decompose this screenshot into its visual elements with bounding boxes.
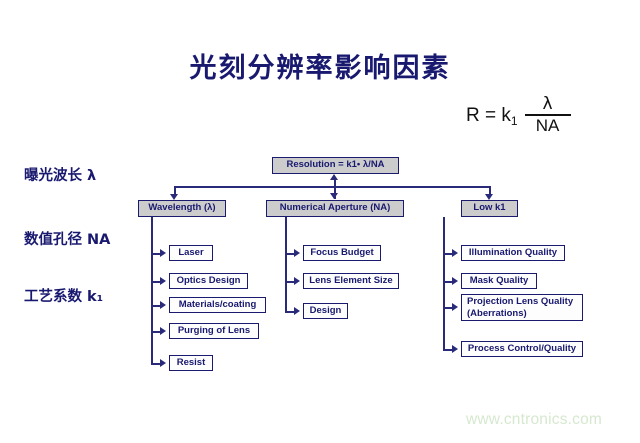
connector-distribution-bar	[174, 186, 491, 188]
arrow-right-optics-design	[160, 277, 166, 285]
node-process-control-quality[interactable]: Process Control/Quality	[461, 341, 583, 357]
connector-spine-numerical-aperture	[285, 217, 287, 312]
arrow-right-resist	[160, 359, 166, 367]
formula-lead: R = k	[466, 105, 511, 127]
node-illumination-quality[interactable]: Illumination Quality	[461, 245, 565, 261]
node-low-k1[interactable]: Low k1	[461, 200, 518, 217]
side-label-process-factor: 工艺系数 k₁	[24, 285, 103, 306]
connector-spine-wavelength	[151, 217, 153, 363]
arrow-right-design	[294, 307, 300, 315]
arrow-root-up	[330, 174, 338, 180]
node-projection-lens-quality-text: Projection Lens Quality (Aberrations)	[467, 296, 573, 320]
formula-fraction: λ NA	[525, 96, 571, 135]
arrow-right-focus-budget	[294, 249, 300, 257]
node-purging-of-lens[interactable]: Purging of Lens	[169, 323, 259, 339]
node-focus-budget[interactable]: Focus Budget	[303, 245, 381, 261]
resolution-formula: R = k1 λ NA	[466, 96, 571, 135]
connector-spine-low-k1	[443, 217, 445, 349]
node-mask-quality[interactable]: Mask Quality	[461, 273, 537, 289]
projection-line-1: Projection Lens Quality	[467, 296, 573, 307]
arrow-right-laser	[160, 249, 166, 257]
formula-subscript: 1	[511, 114, 518, 128]
node-lens-element-size[interactable]: Lens Element Size	[303, 273, 399, 289]
arrow-right-purging	[160, 327, 166, 335]
node-laser[interactable]: Laser	[169, 245, 213, 261]
arrow-right-materials	[160, 301, 166, 309]
node-design[interactable]: Design	[303, 303, 348, 319]
arrow-right-mask-quality	[452, 277, 458, 285]
watermark: www.cntronics.com	[466, 411, 602, 429]
page-title: 光刻分辨率影响因素	[0, 46, 640, 85]
arrow-root-down-na	[330, 193, 338, 199]
projection-line-2: (Aberrations)	[467, 308, 527, 319]
node-resist[interactable]: Resist	[169, 355, 213, 371]
node-numerical-aperture[interactable]: Numerical Aperture (NA)	[266, 200, 404, 217]
arrow-right-lens-element-size	[294, 277, 300, 285]
side-label-wavelength: 曝光波长 λ	[24, 164, 96, 185]
node-wavelength[interactable]: Wavelength (λ)	[138, 200, 226, 217]
formula-denominator: NA	[532, 117, 564, 135]
slide-canvas: { "slide": { "title": "光刻分辨率影响因素", "back…	[0, 0, 640, 443]
formula-numerator: λ	[537, 96, 559, 112]
node-optics-design[interactable]: Optics Design	[169, 273, 248, 289]
node-projection-lens-quality[interactable]: Projection Lens Quality (Aberrations)	[461, 294, 583, 321]
arrow-right-illumination	[452, 249, 458, 257]
node-materials-coating[interactable]: Materials/coating	[169, 297, 266, 313]
arrow-right-projection-lens	[452, 303, 458, 311]
side-label-numerical-aperture: 数值孔径 NA	[24, 228, 110, 249]
node-resolution[interactable]: Resolution = k1• λ/NA	[272, 157, 399, 174]
arrow-right-process-control	[452, 345, 458, 353]
